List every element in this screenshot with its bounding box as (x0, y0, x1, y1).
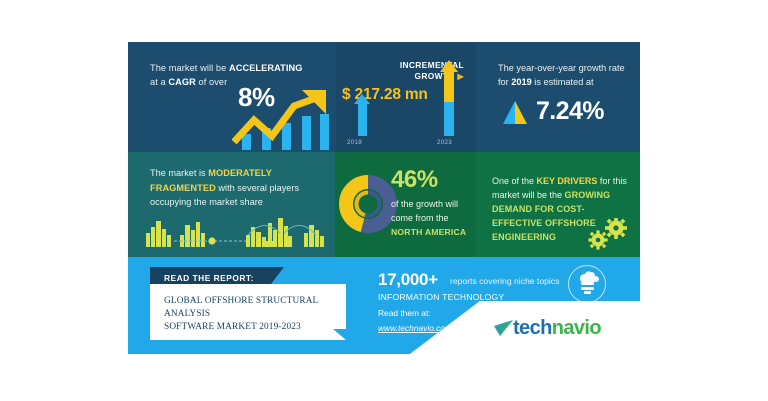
region-share-panel: 46% of the growth will come from the NOR… (335, 152, 476, 257)
yoy-year: 2019 (511, 77, 531, 87)
region-percent: 46% (391, 166, 438, 194)
region-name: NORTH AMERICA (391, 227, 466, 237)
top-row: The market will be ACCELERATING at a CAG… (128, 42, 640, 152)
kd-prefix: One of the (492, 176, 537, 186)
read-the-report-label: READ THE REPORT: (164, 273, 254, 283)
region-line1: of the growth will (391, 199, 458, 209)
growth-arrow-icon (232, 86, 332, 150)
yoy-line2-suffix: is estimated at (532, 77, 594, 87)
yoy-line2-prefix: for (498, 77, 511, 87)
logo-text-tech: tech (513, 317, 552, 339)
cagr-line1-prefix: The market will be (150, 63, 229, 73)
report-count: 17,000+ (378, 270, 438, 290)
report-category: INFORMATION TECHNOLOGY (378, 292, 504, 302)
cagr-description: The market will be ACCELERATING at a CAG… (150, 61, 318, 89)
report-title-line1: GLOBAL OFFSHORE STRUCTURAL ANALYSIS (164, 296, 318, 319)
fragmentation-description: The market is MODERATELY FRAGMENTED with… (150, 166, 328, 210)
reports-cloud-icon (568, 265, 606, 303)
logo-text-navio: navio (552, 317, 601, 339)
region-line2: come from the (391, 213, 449, 223)
yoy-value: 7.24% (536, 97, 604, 126)
incremental-growth-panel: INCREMENTAL GROWTH ▶ $ 217.28 mn 2018 20… (336, 42, 476, 152)
cagr-line1-bold: ACCELERATING (229, 63, 303, 73)
report-title-line2: SOFTWARE MARKET 2019-2023 (164, 322, 301, 332)
yoy-growth-panel: The year-over-year growth rate for 2019 … (476, 42, 640, 152)
gears-icon (584, 218, 636, 252)
year-label-start: 2018 (347, 139, 362, 146)
triangle-up-icon (502, 100, 530, 126)
key-drivers-panel: One of the KEY DRIVERS for this market w… (476, 152, 640, 257)
incremental-growth-bars (336, 42, 476, 152)
technavio-logo: technavio (513, 317, 601, 340)
cagr-line2-suffix: of over (196, 77, 227, 87)
report-title: GLOBAL OFFSHORE STRUCTURAL ANALYSIS SOFT… (164, 295, 344, 334)
infographic-frame: The market will be ACCELERATING at a CAG… (128, 42, 640, 354)
year-label-end: 2023 (437, 139, 452, 146)
middle-row: The market is MODERATELY FRAGMENTED with… (128, 152, 640, 257)
city-skyline-icon (128, 209, 335, 257)
yoy-line1: The year-over-year growth rate (498, 63, 625, 73)
fragmentation-panel: The market is MODERATELY FRAGMENTED with… (128, 152, 335, 257)
frag-prefix: The market is (150, 168, 208, 178)
report-count-suffix: reports covering niche topics (450, 276, 559, 286)
infographic-canvas: The market will be ACCELERATING at a CAG… (0, 0, 768, 401)
region-description: of the growth will come from the NORTH A… (391, 197, 477, 239)
technavio-arrow-icon (493, 319, 515, 339)
read-them-at-label: Read them at: (378, 308, 431, 318)
cagr-panel: The market will be ACCELERATING at a CAG… (128, 42, 336, 152)
cagr-line2-prefix: at a (150, 77, 168, 87)
kd-bold1: KEY DRIVERS (537, 176, 598, 186)
region-donut-chart (339, 172, 397, 236)
bottom-row: READ THE REPORT: GLOBAL OFFSHORE STRUCTU… (128, 257, 640, 354)
cagr-line2-bold: CAGR (168, 77, 195, 87)
yoy-description: The year-over-year growth rate for 2019 … (498, 61, 638, 89)
